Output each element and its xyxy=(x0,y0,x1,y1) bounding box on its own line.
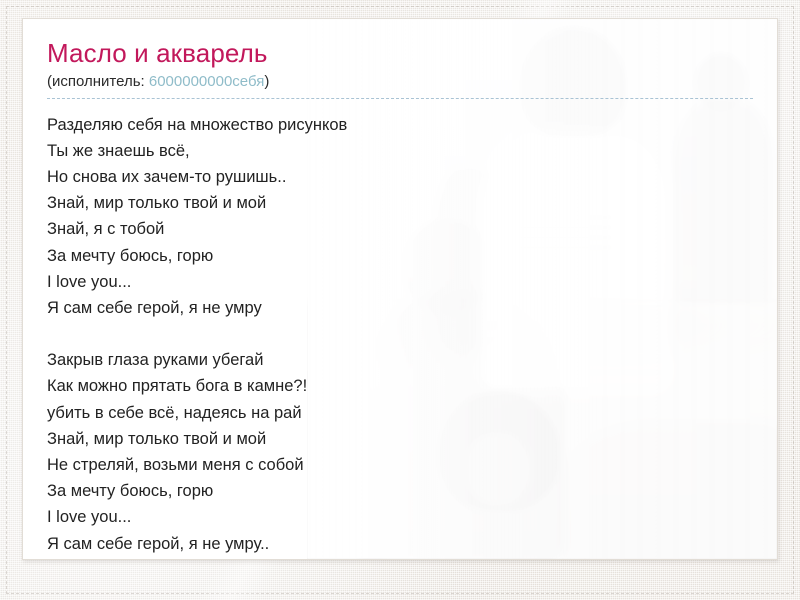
song-title: Масло и акварель xyxy=(47,39,753,68)
lyrics-line: Знай, мир только твой и мой xyxy=(47,190,753,216)
artist-link[interactable]: 6000000000себя xyxy=(149,73,264,90)
lyrics-line: убить в себе всё, надеясь на рай xyxy=(47,400,753,426)
lyrics-line: Я сам себе герой, я не умру xyxy=(47,295,753,321)
lyrics-line: I love you... xyxy=(47,269,753,295)
lyrics-line: Разделяю себя на множество рисунков xyxy=(47,112,753,138)
lyrics-stanza-gap xyxy=(47,321,753,347)
slide-card: Масло и акварель (исполнитель: 600000000… xyxy=(22,18,778,560)
slide-content: Масло и акварель (исполнитель: 600000000… xyxy=(23,19,777,557)
lyrics-line: Но снова их зачем-то рушишь.. xyxy=(47,164,753,190)
lyrics-line: За мечту боюсь, горю xyxy=(47,243,753,269)
lyrics-line: Знай, я с тобой xyxy=(47,216,753,242)
artist-label: (исполнитель: xyxy=(47,73,149,90)
artist-suffix: ) xyxy=(264,73,269,90)
lyrics-line: Знай, мир только твой и мой xyxy=(47,426,753,452)
artist-line: (исполнитель: 6000000000себя) xyxy=(47,72,753,92)
header-divider xyxy=(47,98,753,99)
lyrics-body: Разделяю себя на множество рисунковТы же… xyxy=(47,112,753,557)
lyrics-line: I love you... xyxy=(47,504,753,530)
lyrics-line: За мечту боюсь, горю xyxy=(47,478,753,504)
lyrics-line: Не стреляй, возьми меня с собой xyxy=(47,452,753,478)
lyrics-line: Я сам себе герой, я не умру.. xyxy=(47,531,753,557)
lyrics-line: Закрыв глаза руками убегай xyxy=(47,347,753,373)
lyrics-line: Ты же знаешь всё, xyxy=(47,138,753,164)
lyrics-line: Как можно прятать бога в камне?! xyxy=(47,373,753,399)
